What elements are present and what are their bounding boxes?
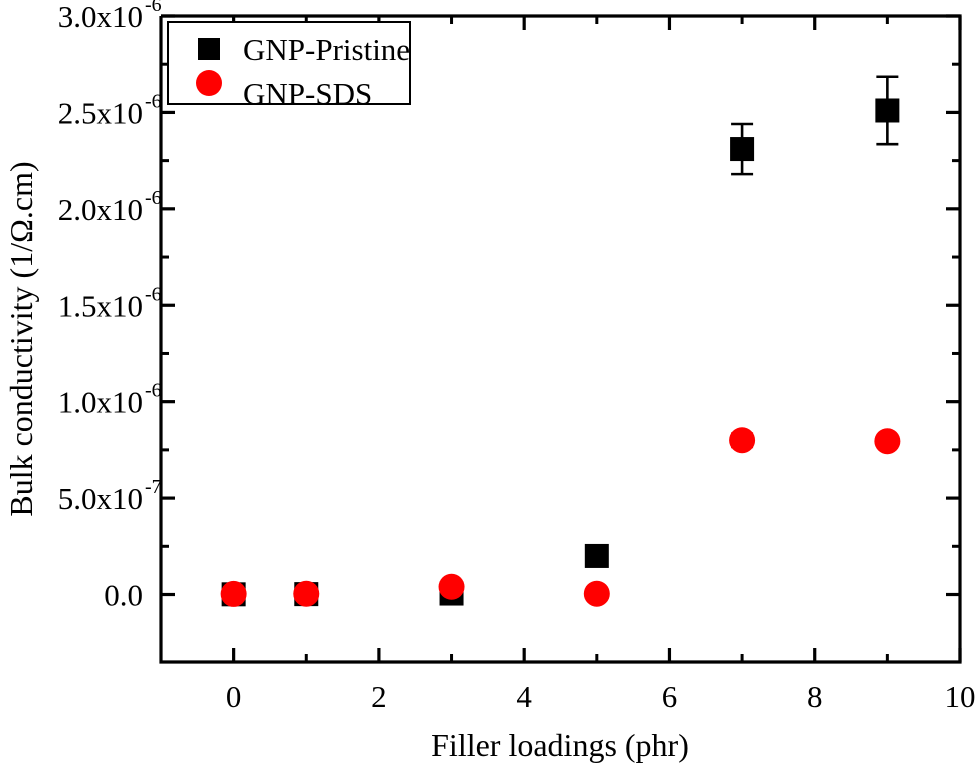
svg-text:-7: -7 bbox=[145, 476, 162, 498]
y-tick-label: 5.0x10-7 bbox=[58, 476, 162, 516]
y-tick-label: 2.0x10-6 bbox=[58, 187, 162, 227]
svg-text:2.0x10: 2.0x10 bbox=[58, 192, 143, 227]
legend-label-pristine: GNP-Pristine bbox=[243, 32, 410, 67]
data-point-circle bbox=[729, 427, 755, 453]
svg-text:2.5x10: 2.5x10 bbox=[58, 95, 143, 130]
y-tick-label: 0.0 bbox=[104, 578, 143, 613]
data-point-square bbox=[585, 544, 609, 568]
data-point-square bbox=[875, 98, 899, 122]
svg-text:0.0: 0.0 bbox=[104, 578, 143, 613]
y-tick-label: 3.0x10-6 bbox=[58, 0, 162, 34]
legend-marker-sds bbox=[196, 70, 222, 96]
x-tick-label: 8 bbox=[807, 679, 823, 714]
x-tick-label: 0 bbox=[226, 679, 242, 714]
svg-text:-6: -6 bbox=[145, 380, 162, 402]
y-tick-label: 2.5x10-6 bbox=[58, 90, 162, 130]
svg-text:-6: -6 bbox=[145, 0, 162, 16]
legend: GNP-Pristine GNP-SDS bbox=[168, 22, 410, 111]
legend-label-sds: GNP-SDS bbox=[243, 76, 372, 111]
legend-marker-pristine bbox=[198, 38, 220, 60]
svg-text:-6: -6 bbox=[145, 90, 162, 112]
svg-text:5.0x10: 5.0x10 bbox=[58, 481, 143, 516]
svg-text:1.0x10: 1.0x10 bbox=[58, 385, 143, 420]
x-tick-label: 4 bbox=[516, 679, 532, 714]
y-axis-tick-labels: 0.05.0x10-71.0x10-61.5x10-62.0x10-62.5x1… bbox=[58, 0, 162, 613]
x-tick-label: 10 bbox=[945, 679, 975, 714]
svg-text:-6: -6 bbox=[145, 187, 162, 209]
svg-text:1.5x10: 1.5x10 bbox=[58, 288, 143, 323]
svg-text:3.0x10: 3.0x10 bbox=[58, 0, 143, 34]
x-axis-ticks bbox=[161, 16, 960, 662]
series-gnp-sds bbox=[221, 427, 901, 607]
svg-text:-6: -6 bbox=[145, 283, 162, 305]
x-tick-label: 2 bbox=[371, 679, 387, 714]
scatter-plot: 0.05.0x10-71.0x10-61.5x10-62.0x10-62.5x1… bbox=[0, 0, 975, 769]
y-axis-title: Bulk conductivity (1/Ω.cm) bbox=[3, 161, 39, 516]
plot-axes bbox=[161, 16, 960, 662]
chart-figure: 0.05.0x10-71.0x10-61.5x10-62.0x10-62.5x1… bbox=[0, 0, 975, 769]
data-point-circle bbox=[293, 581, 319, 607]
data-point-circle bbox=[221, 581, 247, 607]
axis-box bbox=[161, 16, 960, 662]
y-tick-label: 1.5x10-6 bbox=[58, 283, 162, 323]
data-point-square bbox=[730, 137, 754, 161]
series-gnp-pristine bbox=[222, 77, 900, 607]
data-point-circle bbox=[439, 574, 465, 600]
data-point-circle bbox=[584, 581, 610, 607]
y-tick-label: 1.0x10-6 bbox=[58, 380, 162, 420]
data-point-circle bbox=[874, 428, 900, 454]
x-axis-title: Filler loadings (phr) bbox=[431, 727, 689, 763]
x-axis-tick-labels: 0246810 bbox=[226, 679, 975, 714]
data-series-layer bbox=[221, 77, 901, 607]
x-tick-label: 6 bbox=[662, 679, 678, 714]
